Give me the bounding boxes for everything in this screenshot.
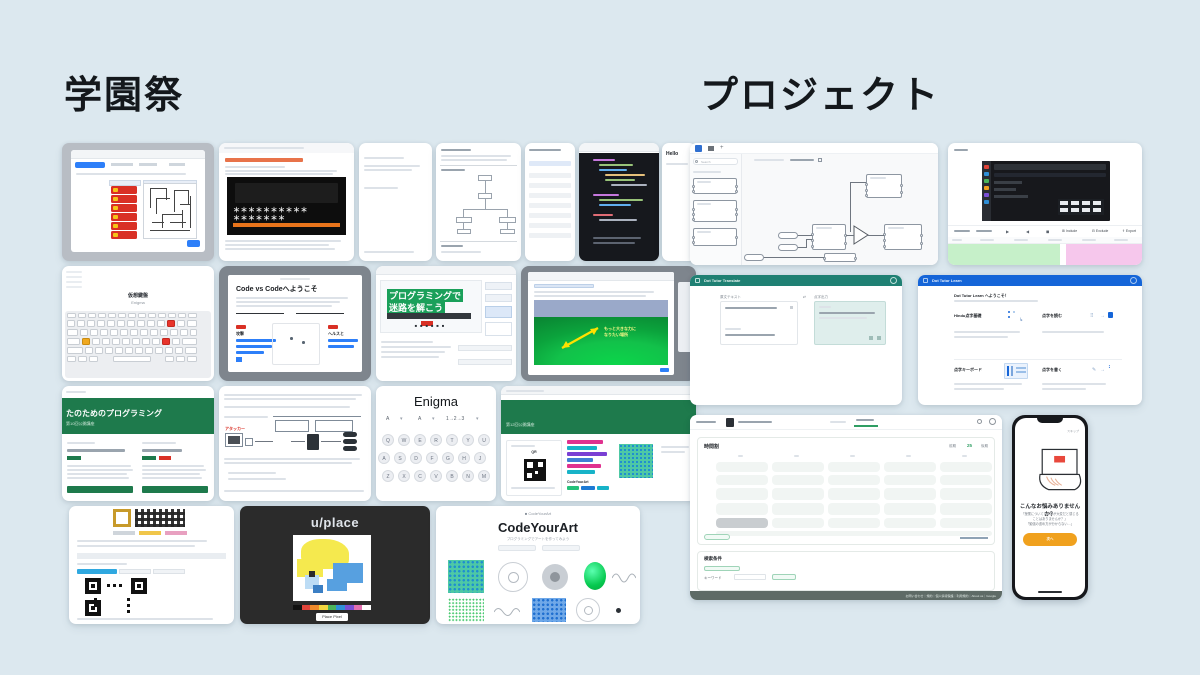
p6-cta-label: 次へ <box>1023 537 1077 542</box>
t2-video-highlight <box>233 223 340 227</box>
p5-tab-active[interactable] <box>856 419 874 423</box>
t9-right-badge <box>328 325 338 329</box>
p2-braille-grid <box>1058 199 1104 215</box>
t11-titlebar <box>528 272 674 281</box>
t15-hero-sub: 第12回公開講座 <box>506 422 534 428</box>
t8-highlight-key-c[interactable] <box>162 338 170 345</box>
p3-swap-icon[interactable]: ⇄ <box>803 295 806 299</box>
t9-right-label: ヘルスと <box>328 331 344 337</box>
t9-heading: Code vs Codeへようこそ <box>236 284 318 294</box>
p3-menu-icon[interactable] <box>695 278 700 283</box>
p4-card-1-icon: ↳ <box>1006 311 1026 325</box>
p5-toggle-left[interactable]: 前期 <box>949 444 956 449</box>
p3-target-label: 点字出力 <box>814 295 828 300</box>
t10-panel-selected[interactable] <box>485 306 512 318</box>
t11-arrow-icon <box>534 300 668 365</box>
t7-hello-text: Hello <box>666 151 678 157</box>
gallery-projects: + Search <box>690 143 1142 628</box>
t12-hero-title: たのためのプログラミング <box>66 408 162 419</box>
p4-appbar: Dot Tutor Learn <box>918 275 1142 286</box>
t2-video-player[interactable]: ＊＊＊＊＊＊＊＊＊＊ ＊＊＊＊＊＊＊ <box>227 177 346 235</box>
p4-card-4-title: 点字を書く <box>1042 367 1062 373</box>
thumb-code-vs-code-page[interactable]: Code vs Codeへようこそ 攻撃 ヘルスと <box>219 266 371 381</box>
t8-title: 仮想鍵盤 <box>62 292 214 299</box>
thumb-dot-tutor-learn[interactable]: Dot Tutor Learn Dot Tutor Learn へようこそ！ H… <box>918 275 1142 405</box>
t10-panel-b[interactable] <box>485 294 512 302</box>
thumb-timetable-app[interactable]: 時間割 前期 25 後期 <box>690 415 1002 600</box>
p2-clip-pink[interactable] <box>1066 244 1142 265</box>
p5-add-button[interactable] <box>704 534 730 540</box>
t18-art-3[interactable] <box>542 564 568 590</box>
p1-sidebar: Search <box>690 154 742 265</box>
t9-arena <box>272 323 320 365</box>
t16-section-bar <box>77 553 226 559</box>
t1-run-button[interactable] <box>187 240 200 247</box>
p5-keyword-input[interactable] <box>734 574 766 580</box>
t13-node-server-b <box>315 420 353 432</box>
p4-app-title: Dot Tutor Learn <box>932 278 962 283</box>
t8-keyboard[interactable] <box>65 311 211 378</box>
gallery-school-festival: ＊＊＊＊＊＊＊＊＊＊ ＊＊＊＊＊＊＊ <box>62 143 634 628</box>
p4-card-3[interactable]: 点字キーボード <box>954 367 1030 401</box>
t16-tab-active[interactable] <box>77 569 117 574</box>
p2-app-label <box>954 149 968 151</box>
t12-cta-right[interactable] <box>142 486 208 493</box>
p5-cell-selected[interactable] <box>716 518 768 528</box>
thumb-programming-slide[interactable]: プログラミングで 迷路を解こう ■■■■■■ <box>376 266 516 381</box>
p4-card-1[interactable]: Hindu点字基礎 ↳ <box>954 313 1030 353</box>
t14-rotor-row[interactable]: A ▾ A ▾ 1→2→3 ▾ <box>380 416 492 424</box>
t8-subtitle: Enigma <box>62 300 214 305</box>
t11-next-button[interactable] <box>660 368 669 372</box>
t18-art-5-wave-icon[interactable] <box>612 568 636 584</box>
t18-title: CodeYourArt <box>436 520 640 535</box>
t16-tab-3[interactable] <box>153 569 185 574</box>
p4-card-3-title: 点字キーボード <box>954 367 982 373</box>
t8-highlight-key-a[interactable] <box>167 320 175 327</box>
t1-desc <box>76 173 186 175</box>
thumb-article-dark-video[interactable]: ＊＊＊＊＊＊＊＊＊＊ ＊＊＊＊＊＊＊ <box>219 143 354 261</box>
p5-toggle-right[interactable]: 後期 <box>981 444 988 449</box>
p4-card-1-title: Hindu点字基礎 <box>954 313 981 319</box>
t11-screen: もっと大きな力になりたい場所 <box>528 272 674 375</box>
p5-term-value: 25 <box>967 443 972 448</box>
p4-page-title: Dot Tutor Learn へようこそ！ <box>954 293 1009 299</box>
t18-art-9[interactable] <box>576 598 600 622</box>
p5-search-button[interactable] <box>772 574 796 580</box>
t18-subtitle: プログラミングでアートを作ってみよう <box>436 537 640 542</box>
t11-notice <box>534 284 594 288</box>
t18-art-1[interactable] <box>448 560 484 593</box>
p5-navbar <box>690 415 1002 430</box>
p6-home-indicator <box>1038 591 1062 593</box>
t16-qr-logo <box>113 509 131 527</box>
thumb-dark-code-editor[interactable] <box>579 143 659 261</box>
section-title-right: プロジェクト <box>700 64 940 119</box>
p4-card-3-icon <box>1004 363 1028 379</box>
p5-link[interactable] <box>960 537 988 539</box>
t16-qr-strip <box>135 509 185 527</box>
p2-clip-green[interactable] <box>948 244 1060 265</box>
thumb-green-header-page-b[interactable]: 第12回公開講座 QR CodeYourArt <box>501 386 696 501</box>
p1-toolbar <box>690 143 938 154</box>
t18-art-7-wave-icon[interactable] <box>494 604 520 618</box>
p3-source-label: 原文テキスト <box>720 295 741 300</box>
thumb-codeyourart-gallery[interactable]: ■ CodeYourArt CodeYourArt プログラミングでアートを作っ… <box>436 506 640 624</box>
t2-video-ghost-text <box>235 183 338 203</box>
t2-video-line2: ＊＊＊＊＊＊＊ <box>233 213 286 223</box>
p5-filter-chip[interactable] <box>704 566 740 571</box>
t18-filter-b[interactable] <box>542 545 580 551</box>
t18-art-2[interactable] <box>498 562 528 592</box>
t11-terrain-canvas[interactable]: もっと大きな力になりたい場所 <box>534 300 668 365</box>
p2-export-button[interactable]: ⇪ Export <box>1122 229 1136 233</box>
thumb-app-builder-list[interactable] <box>525 143 575 261</box>
p2-exclude-button[interactable]: ⊟ Exclude <box>1092 229 1108 233</box>
p6-skip-link[interactable]: スキップ <box>1067 429 1079 433</box>
t2-url <box>224 147 304 149</box>
slide-root: 学園祭 プロジェクト <box>0 0 1200 675</box>
p5-search-panel: 検索条件 キーワード <box>697 551 995 591</box>
t1-block-stack[interactable] <box>111 186 137 238</box>
p6-cta-button[interactable]: 次へ <box>1023 533 1077 546</box>
p4-card-2-title: 点字を読む <box>1042 313 1062 319</box>
t10-slide-canvas: プログラミングで 迷路を解こう ■■■■■■ <box>380 280 482 333</box>
section-title-left: 学園祭 <box>64 64 184 119</box>
p1-cursor-icon[interactable] <box>708 146 714 151</box>
t13-node-stack <box>307 434 319 450</box>
t2-heading <box>225 158 303 162</box>
t15-color-blocks: CodeYourArt <box>567 440 613 492</box>
thumb-virtual-keyboard-app[interactable]: 仮想鍵盤 Enigma <box>62 266 214 381</box>
p4-menu-icon[interactable] <box>923 278 928 283</box>
t14-title: Enigma <box>376 394 496 409</box>
p2-ruler <box>948 237 1142 244</box>
p4-card-4[interactable]: 点字を書く ✎ → ⠃ <box>1042 367 1118 401</box>
thumb-enigma-keyboard-app[interactable]: Enigma A ▾ A ▾ 1→2→3 ▾ Q W E R T Y U A S <box>376 386 496 501</box>
t4-node-left <box>456 217 472 223</box>
t1-titlebar <box>71 150 205 159</box>
p1-canvas[interactable] <box>742 154 938 265</box>
p5-avatar[interactable] <box>726 418 734 427</box>
thumb-blockly-maze-app[interactable] <box>62 143 214 261</box>
p1-app-icon <box>695 145 702 152</box>
t17-color-palette[interactable] <box>293 605 371 610</box>
t17-place-pixel-button[interactable]: Place Pixel <box>316 613 348 621</box>
p1-palette-node-3[interactable] <box>693 228 737 246</box>
t1-tab-4[interactable] <box>169 163 185 166</box>
p6-illustration-icon <box>1027 444 1085 494</box>
t13-node-server-a <box>275 420 309 432</box>
t18-brand: ■ CodeYourArt <box>436 511 640 516</box>
t9-screen: Code vs Codeへようこそ 攻撃 ヘルスと <box>228 275 362 372</box>
t1-maze-canvas <box>143 183 197 239</box>
p2-include-button[interactable]: ⊞ Include <box>1062 229 1077 233</box>
t18-art-4[interactable] <box>584 562 606 590</box>
p2-transport-bar[interactable]: ▶ ◀ ◼ ⊞ Include ⊟ Exclude ⇪ Export <box>948 225 1142 237</box>
p3-help-icon[interactable] <box>890 277 897 284</box>
p6-body: 「授業についていくのが大変だと感じることはありませんか？」「勉強の進め方が分から… <box>1021 512 1079 527</box>
p3-target-output[interactable] <box>814 301 886 345</box>
t10-panel-a[interactable] <box>485 282 512 290</box>
p6-notch <box>1037 418 1063 423</box>
p5-day-header <box>716 453 988 458</box>
p2-preview-capture[interactable] <box>982 161 1110 221</box>
t11-annotation: もっと大きな力になりたい場所 <box>604 326 636 338</box>
p5-timetable-panel: 時間割 前期 25 後期 <box>697 437 995 545</box>
t12-hero-sub: 第10回公開講座 <box>66 421 94 427</box>
p1-search-icon <box>695 160 698 163</box>
p5-tab-inactive[interactable] <box>830 421 846 423</box>
t8-highlight-key-b[interactable] <box>82 338 90 345</box>
p5-keyword-label: キーワード <box>704 576 722 581</box>
p5-panel-title: 時間割 <box>704 443 719 450</box>
p5-footer: お問い合わせ｜規約｜個人情報保護｜利用規約｜About us｜Google <box>690 591 1002 600</box>
t10-line3 <box>387 313 471 319</box>
t1-primary-tab[interactable] <box>75 162 105 168</box>
t8-space-key[interactable] <box>113 356 151 362</box>
t17-pixel-canvas[interactable] <box>293 535 371 601</box>
p1-add-icon[interactable]: + <box>720 146 724 151</box>
p5-search-icon[interactable] <box>977 419 982 424</box>
thumb-node-graph-editor[interactable]: + Search <box>690 143 938 265</box>
thumb-green-header-page-a[interactable]: たのためのプログラミング 第10回公開講座 <box>62 386 214 501</box>
t18-art-6[interactable] <box>448 598 484 622</box>
thumb-plain-document[interactable] <box>359 143 432 261</box>
p1-palette-node-1[interactable] <box>693 178 737 194</box>
t12-cta-left[interactable] <box>67 486 133 493</box>
t10-panel-maze[interactable] <box>485 322 512 336</box>
t1-screen <box>71 150 205 252</box>
t13-label-attack: アタッカー <box>225 426 245 432</box>
p5-settings-icon[interactable] <box>989 418 996 425</box>
t1-tab-3[interactable] <box>139 163 157 166</box>
thumb-dot-tutor-translate[interactable]: Dot Tutor Translate 原文テキスト ⇄ 点字出力 <box>690 275 902 405</box>
thumb-qr-code-builder[interactable] <box>69 506 234 624</box>
p4-help-icon[interactable] <box>1130 277 1137 284</box>
p5-logo[interactable] <box>696 421 716 423</box>
t10-field-a[interactable] <box>458 345 512 351</box>
t18-art-8[interactable] <box>532 598 566 622</box>
t12-hero: たのためのプログラミング 第10回公開講座 <box>62 398 214 434</box>
t5-title <box>529 149 561 151</box>
t10-titlebar <box>376 266 516 275</box>
t6-code-surface <box>579 153 659 261</box>
p1-search-input[interactable] <box>693 158 738 165</box>
t10-field-b[interactable] <box>458 359 512 365</box>
thumb-terrain-3d-viewer[interactable]: もっと大きな力になりたい場所 <box>521 266 696 381</box>
t16-tab-2[interactable] <box>119 569 151 574</box>
t18-filter-a[interactable] <box>498 545 536 551</box>
t9-left-label: 攻撃 <box>236 331 244 337</box>
thumb-uplace-pixel-canvas[interactable]: u/place Place Pixel <box>240 506 430 624</box>
thumb-flowchart-document[interactable] <box>436 143 521 261</box>
p1-amplifier-icon <box>742 154 938 265</box>
p4-card-2-icon: ⠿ → <box>1090 311 1114 325</box>
p6-screen: スキップ こんなお悩みありませんか？ 「授業についていくのが大変だと感じることは… <box>1015 418 1085 597</box>
t18-art-10[interactable] <box>616 608 621 613</box>
thumb-system-diagram-doc[interactable]: アタッカー <box>219 386 371 501</box>
t15-pattern-preview <box>619 444 653 478</box>
thumb-mobile-onboarding[interactable]: スキップ こんなお悩みありませんか？ 「授業についていくのが大変だと感じることは… <box>1012 415 1088 600</box>
t1-tab-2[interactable] <box>111 163 133 166</box>
p1-search-placeholder: Search <box>701 160 711 164</box>
t17-title: u/place <box>240 515 430 530</box>
t6-titlebar <box>579 143 659 152</box>
p3-app-title: Dot Tutor Translate <box>704 278 740 283</box>
p1-palette-node-2[interactable] <box>693 200 737 222</box>
t9-left-badge <box>236 325 246 329</box>
p3-source-textarea[interactable] <box>720 301 798 345</box>
p5-search-title: 検索条件 <box>704 556 722 562</box>
thumb-video-editor-timeline[interactable]: ▶ ◀ ◼ ⊞ Include ⊟ Exclude ⇪ Export <box>948 143 1142 265</box>
t15-qr-card: QR <box>506 440 562 496</box>
p4-card-4-icon: ✎ → ⠃ <box>1092 365 1114 379</box>
p4-card-2[interactable]: 点字を読む ⠿ → <box>1042 313 1118 353</box>
p3-appbar: Dot Tutor Translate <box>690 275 902 286</box>
t15-hero: 第12回公開講座 <box>501 400 696 434</box>
